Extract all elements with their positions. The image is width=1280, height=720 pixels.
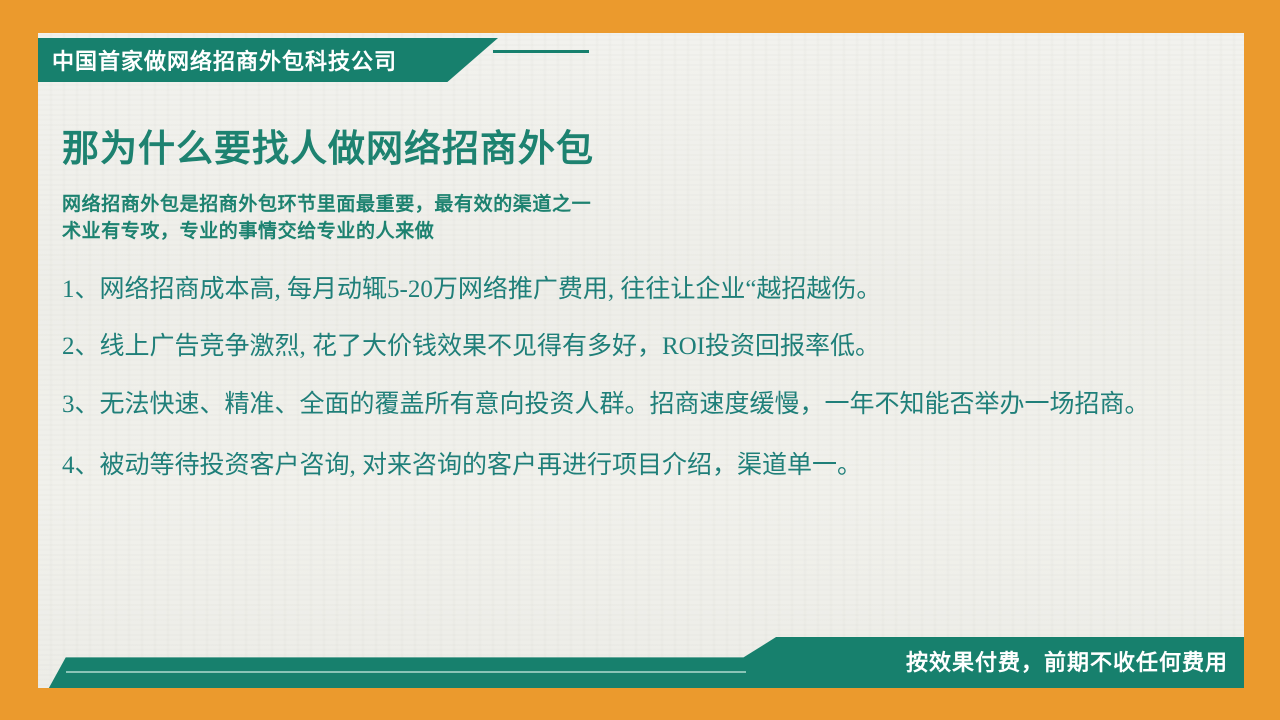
slide-content: 那为什么要找人做网络招商外包 网络招商外包是招商外包环节里面最重要，最有效的渠道… — [62, 128, 1192, 484]
header-banner: 中国首家做网络招商外包科技公司 — [38, 38, 498, 82]
subtitle-block: 网络招商外包是招商外包环节里面最重要，最有效的渠道之一 术业有专攻，专业的事情交… — [62, 191, 1192, 246]
footer-tagline: 按效果付费，前期不收任何费用 — [906, 645, 1228, 677]
header-accent-rule — [493, 50, 589, 53]
footer-accent-rule — [66, 671, 746, 673]
header-banner-label: 中国首家做网络招商外包科技公司 — [38, 44, 397, 76]
body-item-2: 2、线上广告竞争激烈, 花了大价钱效果不见得有多好，ROI投资回报率低。 — [62, 329, 1182, 365]
page-title: 那为什么要找人做网络招商外包 — [62, 128, 1192, 171]
subtitle-line-2: 术业有专攻，专业的事情交给专业的人来做 — [62, 218, 1192, 246]
slide-canvas: 中国首家做网络招商外包科技公司 那为什么要找人做网络招商外包 网络招商外包是招商… — [0, 0, 1280, 720]
body-item-3: 3、无法快速、精准、全面的覆盖所有意向投资人群。招商速度缓慢，一年不知能否举办一… — [62, 387, 1182, 423]
body-item-4: 4、被动等待投资客户咨询, 对来咨询的客户再进行项目介绍，渠道单一。 — [62, 448, 1182, 484]
subtitle-line-1: 网络招商外包是招商外包环节里面最重要，最有效的渠道之一 — [62, 191, 1192, 219]
body-item-1: 1、网络招商成本高, 每月动辄5-20万网络推广费用, 往往让企业“越招越伤。 — [62, 272, 1182, 308]
